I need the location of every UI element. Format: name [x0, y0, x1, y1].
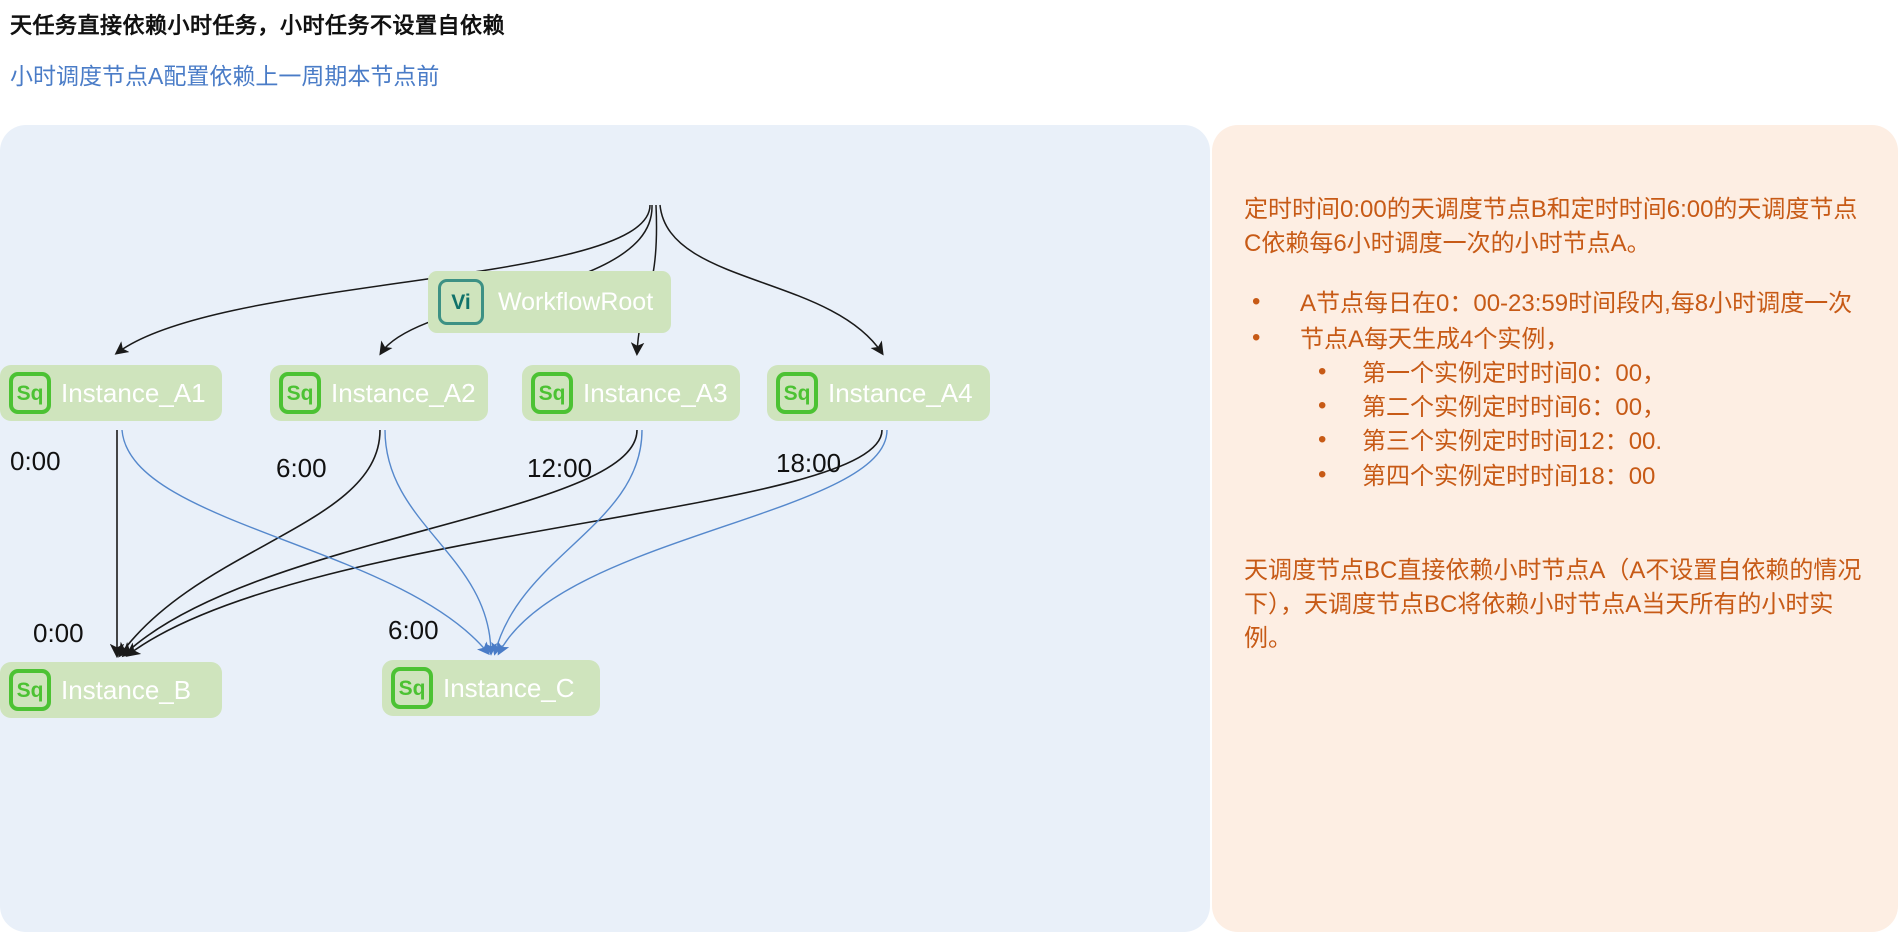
time-label-b: 0:00 — [33, 620, 84, 646]
notes-bullet-list: A节点每日在0：00-23:59时间段内,每8小时调度一次 节点A每天生成4个实… — [1244, 287, 1870, 493]
notes-bullet-text: 节点A每天生成4个实例， — [1300, 326, 1569, 353]
page-subtitle: 小时调度节点A配置依赖上一周期本节点前 — [10, 57, 439, 91]
node-instance-a1[interactable]: Sq Instance_A1 — [0, 365, 222, 421]
notes-bullet-item: 节点A每天生成4个实例， 第一个实例定时时间0：00， 第二个实例定时时间6：0… — [1244, 323, 1870, 493]
notes-panel: 定时时间0:00的天调度节点B和定时时间6:00的天调度节点C依赖每6小时调度一… — [1212, 125, 1898, 932]
node-label: Instance_A2 — [331, 380, 476, 406]
node-instance-c[interactable]: Sq Instance_C — [382, 660, 600, 716]
sq-badge-icon: Sq — [391, 667, 433, 709]
node-instance-a2[interactable]: Sq Instance_A2 — [270, 365, 488, 421]
time-label-a4: 18:00 — [776, 450, 841, 476]
node-label: Instance_C — [443, 675, 575, 701]
sq-badge-icon: Sq — [531, 372, 573, 414]
notes-sub-bullet-item: 第一个实例定时时间0：00， — [1300, 357, 1870, 391]
time-label-a1: 0:00 — [10, 448, 61, 474]
notes-sub-bullet-item: 第四个实例定时时间18：00 — [1300, 460, 1870, 494]
notes-sub-bullet-item: 第二个实例定时时间6：00， — [1300, 391, 1870, 425]
sq-badge-icon: Sq — [9, 372, 51, 414]
notes-bullet-text: A节点每日在0：00-23:59时间段内,每8小时调度一次 — [1300, 290, 1852, 317]
notes-intro: 定时时间0:00的天调度节点B和定时时间6:00的天调度节点C依赖每6小时调度一… — [1244, 193, 1870, 261]
page-title: 天任务直接依赖小时任务，小时任务不设置自依赖 — [10, 8, 505, 40]
notes-summary: 天调度节点BC直接依赖小时节点A（A不设置自依赖的情况下），天调度节点BC将依赖… — [1244, 554, 1870, 656]
node-instance-b[interactable]: Sq Instance_B — [0, 662, 222, 718]
time-label-a2: 6:00 — [276, 455, 327, 481]
sq-badge-icon: Sq — [9, 669, 51, 711]
vi-badge-icon: Vi — [438, 279, 484, 325]
node-label: Instance_A3 — [583, 380, 728, 406]
node-label: Instance_A4 — [828, 380, 973, 406]
node-instance-a3[interactable]: Sq Instance_A3 — [522, 365, 740, 421]
notes-sub-bullet-item: 第三个实例定时时间12：00. — [1300, 425, 1870, 459]
time-label-c: 6:00 — [388, 617, 439, 643]
time-label-a3: 12:00 — [527, 455, 592, 481]
diagram-panel: Vi WorkflowRoot 0:00 6:00 12:00 18:00 Sq… — [0, 125, 1210, 932]
node-label: WorkflowRoot — [498, 290, 653, 315]
node-instance-a4[interactable]: Sq Instance_A4 — [767, 365, 990, 421]
sq-badge-icon: Sq — [776, 372, 818, 414]
sq-badge-icon: Sq — [279, 372, 321, 414]
node-label: Instance_A1 — [61, 380, 206, 406]
node-workflow-root[interactable]: Vi WorkflowRoot — [428, 271, 671, 333]
graph-edges — [0, 125, 1210, 932]
node-label: Instance_B — [61, 677, 191, 703]
notes-sub-bullet-list: 第一个实例定时时间0：00， 第二个实例定时时间6：00， 第三个实例定时时间1… — [1300, 357, 1870, 493]
notes-bullet-item: A节点每日在0：00-23:59时间段内,每8小时调度一次 — [1244, 287, 1870, 321]
